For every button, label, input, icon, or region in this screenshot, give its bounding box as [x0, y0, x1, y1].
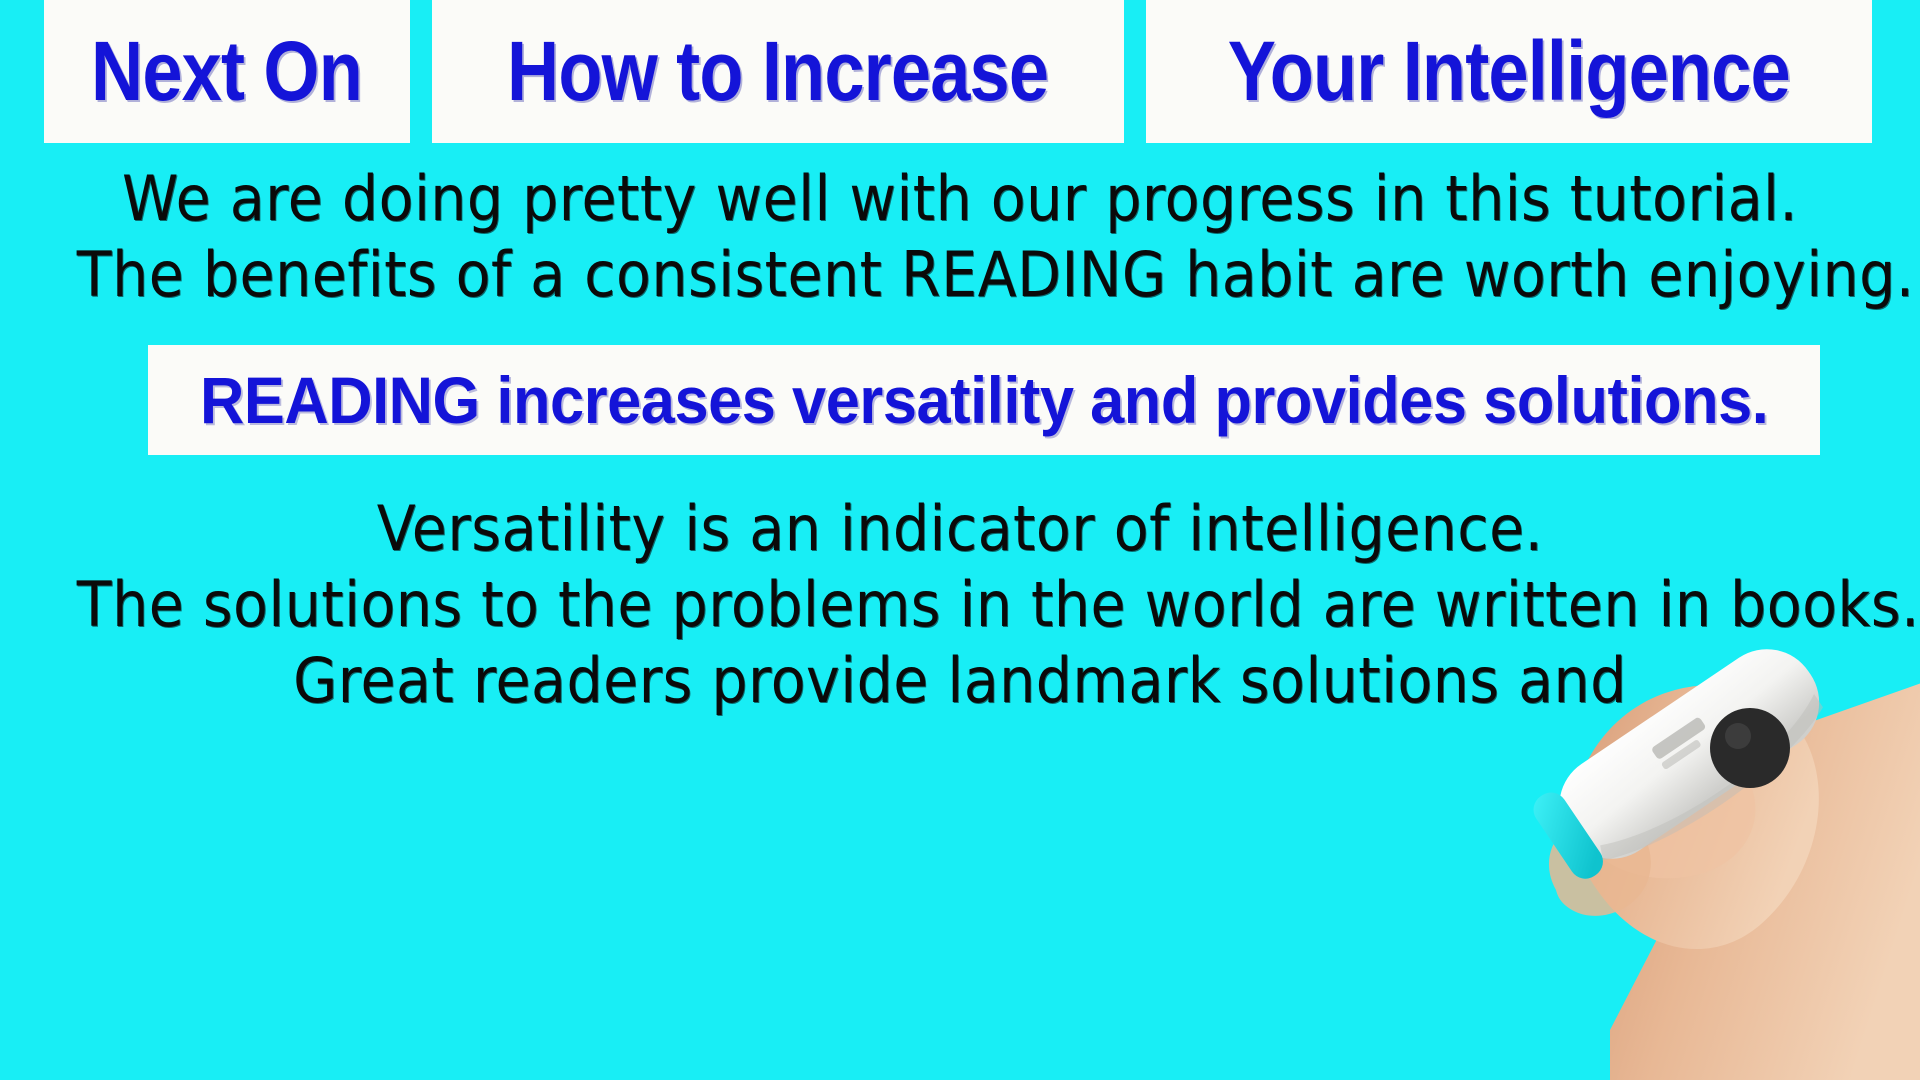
body-text-line: The solutions to the problems in the wor… — [77, 574, 1843, 636]
highlight-callout-label: READING increases versatility and provid… — [200, 367, 1768, 433]
header-box-label: Next On — [92, 32, 363, 112]
marker-tip-icon — [1710, 708, 1790, 788]
header-box-your-intelligence: Your Intelligence — [1146, 0, 1872, 143]
body-text-line: Great readers provide landmark solutions… — [77, 650, 1843, 712]
header-box-label: Your Intelligence — [1228, 32, 1790, 112]
body-text-line: Versatility is an indicator of intellige… — [77, 498, 1843, 560]
body-text-line: The benefits of a consistent READING hab… — [77, 244, 1843, 306]
body-text-line: We are doing pretty well with our progre… — [77, 168, 1843, 230]
header-box-how-to-increase: How to Increase — [432, 0, 1124, 143]
header-box-row: Next On How to Increase Your Intelligenc… — [0, 0, 1920, 148]
whiteboard-canvas: Next On How to Increase Your Intelligenc… — [0, 0, 1920, 1080]
highlight-callout-box: READING increases versatility and provid… — [148, 345, 1820, 455]
header-box-label: How to Increase — [507, 32, 1048, 112]
header-box-next-on: Next On — [44, 0, 410, 143]
